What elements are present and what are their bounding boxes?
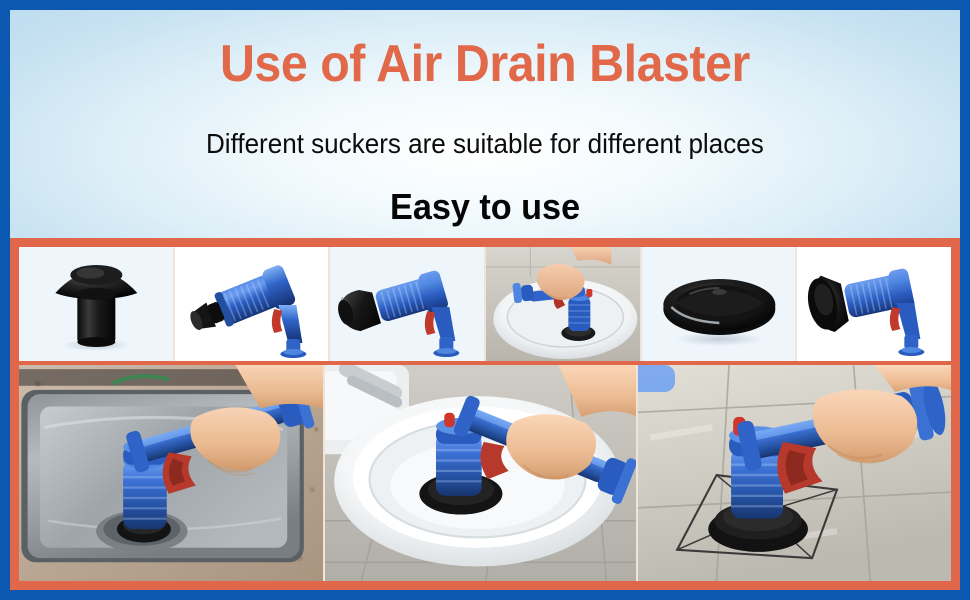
- blaster-floor-drain-photo: [638, 365, 951, 581]
- blaster-toilet-photo: [325, 365, 636, 581]
- gallery-item-blaster-washbasin[interactable]: [486, 247, 640, 361]
- page-tagline: Easy to use: [390, 158, 580, 225]
- gallery-top-row: [19, 247, 951, 361]
- small-cup-sucker-icon: [19, 247, 173, 361]
- blaster-cone-sucker-icon: [797, 247, 951, 361]
- page-subtitle: Different suckers are suitable for diffe…: [206, 90, 764, 158]
- page-title: Use of Air Drain Blaster: [220, 10, 750, 90]
- gallery-item-blaster-small-sucker[interactable]: [175, 247, 329, 361]
- gallery-item-floor-drain[interactable]: [638, 365, 951, 581]
- gallery-item-kitchen-sink[interactable]: [19, 365, 323, 581]
- poster-root: Use of Air Drain Blaster Different sucke…: [0, 0, 970, 600]
- blaster-small-sucker-icon: [175, 247, 329, 361]
- blaster-angled-sucker-icon: [330, 247, 484, 361]
- header-divider: [10, 238, 960, 247]
- blaster-washbasin-photo: [486, 247, 640, 361]
- blaster-kitchen-sink-photo: [19, 365, 323, 581]
- gallery-item-small-cup-sucker[interactable]: [19, 247, 173, 361]
- gallery-item-toilet-bowl[interactable]: [325, 365, 636, 581]
- large-disc-sucker-icon: [642, 247, 796, 361]
- poster-inner-frame: Use of Air Drain Blaster Different sucke…: [10, 10, 960, 590]
- gallery-item-blaster-angled-sucker[interactable]: [330, 247, 484, 361]
- gallery-item-large-disc-sucker[interactable]: [642, 247, 796, 361]
- gallery-item-blaster-cone-sucker[interactable]: [797, 247, 951, 361]
- gallery-grid: [10, 247, 960, 590]
- gallery-bottom-row: [19, 365, 951, 581]
- header-panel: Use of Air Drain Blaster Different sucke…: [10, 10, 960, 238]
